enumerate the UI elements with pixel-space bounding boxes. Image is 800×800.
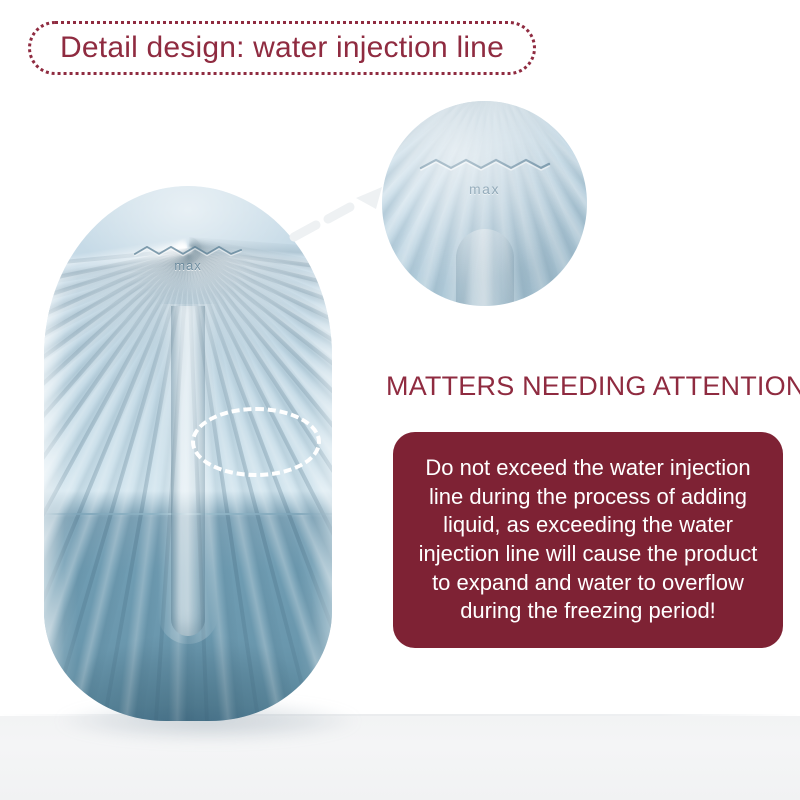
product-detail-page: Detail design: water injection line max bbox=[0, 0, 800, 800]
detail-callout-ellipse bbox=[191, 407, 321, 477]
page-title-pill: Detail design: water injection line bbox=[28, 21, 536, 75]
dashed-arrow-icon bbox=[286, 182, 396, 248]
warning-box: Do not exceed the water injection line d… bbox=[393, 432, 783, 648]
attention-heading: MATTERS NEEDING ATTENTION: bbox=[386, 371, 800, 402]
product-image: max bbox=[44, 186, 332, 721]
warning-text: Do not exceed the water injection line d… bbox=[407, 454, 769, 626]
inset-gloss-overlay bbox=[382, 101, 587, 306]
page-title: Detail design: water injection line bbox=[60, 33, 504, 63]
magnified-detail-circle: max bbox=[382, 101, 587, 306]
product-bottom-shading bbox=[44, 571, 332, 721]
